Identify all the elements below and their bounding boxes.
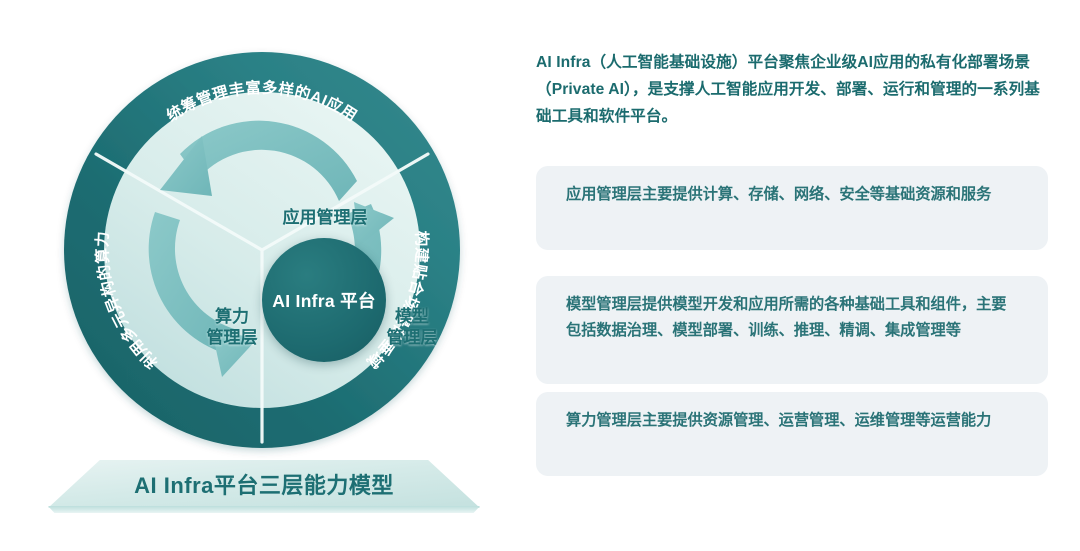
layer-label-application: 应用管理层 — [240, 207, 410, 228]
layer-label-compute-line2: 管理层 — [182, 327, 282, 348]
description-panel: AI Infra（人工智能基础设施）平台聚焦企业级AI应用的私有化部署场景（Pr… — [520, 0, 1080, 551]
info-card-compute: 算力管理层主要提供资源管理、运营管理、运维管理等运营能力 — [536, 392, 1048, 476]
capability-wheel-diagram: 统筹管理丰富多样的AI应用 高效利用多元异构的算力资源 快速构建贴合场景的垂域模… — [0, 0, 520, 551]
wheel-graphic: 统筹管理丰富多样的AI应用 高效利用多元异构的算力资源 快速构建贴合场景的垂域模… — [62, 50, 462, 450]
platform-title: AI Infra平台三层能力模型 — [48, 468, 480, 500]
intro-paragraph: AI Infra（人工智能基础设施）平台聚焦企业级AI应用的私有化部署场景（Pr… — [536, 50, 1048, 130]
info-card-model: 模型管理层提供模型开发和应用所需的各种基础工具和组件，主要包括数据治理、模型部署… — [536, 276, 1048, 384]
hub-label: AI Infra 平台 — [272, 288, 375, 313]
center-hub: AI Infra 平台 — [262, 238, 386, 362]
info-card-application: 应用管理层主要提供计算、存储、网络、安全等基础资源和服务 — [536, 166, 1048, 250]
slide-canvas: 统筹管理丰富多样的AI应用 高效利用多元异构的算力资源 快速构建贴合场景的垂域模… — [0, 0, 1080, 551]
platform-edge — [48, 506, 480, 513]
platform-base: AI Infra平台三层能力模型 — [48, 460, 480, 508]
